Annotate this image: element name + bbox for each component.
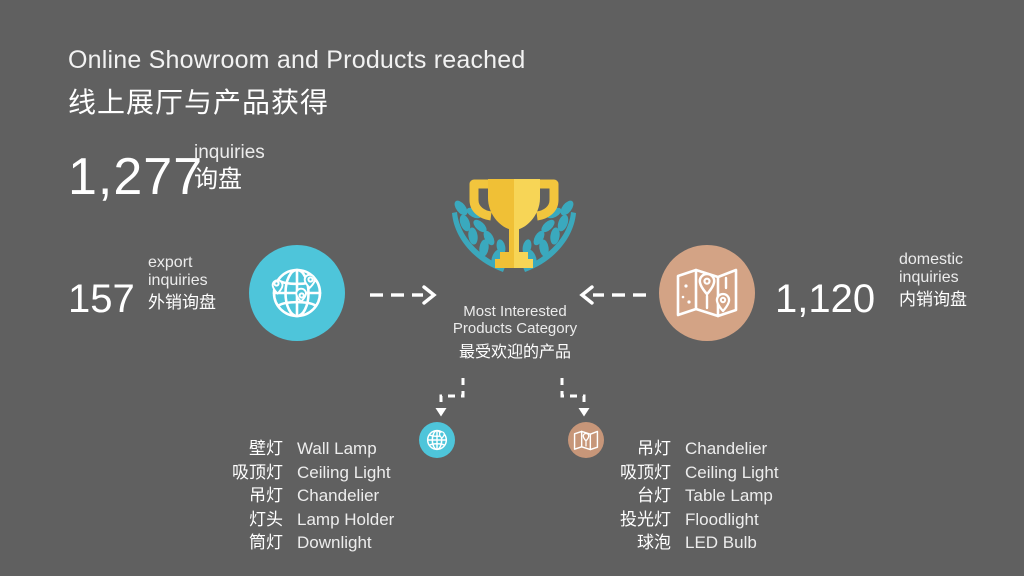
product-list-domestic: 吊灯 Chandelier 吸顶灯 Ceiling Light 台灯 Table… <box>620 437 779 555</box>
product-item-en: Downlight <box>297 531 394 555</box>
dashed-elbow-down-icon-left <box>425 378 467 427</box>
product-item-en: Lamp Holder <box>297 508 394 532</box>
product-item-en: Ceiling Light <box>685 461 779 485</box>
product-item-en: Chandelier <box>685 437 779 461</box>
dashed-arrow-left-icon <box>578 283 648 312</box>
domestic-label-zh: 内销询盘 <box>899 290 967 309</box>
export-label-en-line1: export <box>148 254 216 272</box>
domestic-label-en-line1: domestic <box>899 251 967 269</box>
export-label-zh: 外销询盘 <box>148 293 216 312</box>
export-label-en-line2: inquiries <box>148 272 216 290</box>
page-title-zh: 线上展厅与产品获得 <box>68 81 329 121</box>
product-list-export: 壁灯 Wall Lamp 吸顶灯 Ceiling Light 吊灯 Chande… <box>232 437 394 555</box>
product-item-zh: 球泡 <box>620 531 671 555</box>
total-inquiries-label-zh: 询盘 <box>194 166 265 194</box>
product-item-zh: 吊灯 <box>232 484 283 508</box>
product-item-en: Ceiling Light <box>297 461 394 485</box>
center-caption-zh: 最受欢迎的产品 <box>420 343 610 362</box>
product-item-zh: 壁灯 <box>232 437 283 461</box>
center-caption-en-line2: Products Category <box>420 320 610 337</box>
product-item-zh: 筒灯 <box>232 531 283 555</box>
domestic-inquiries-number: 1,120 <box>775 277 875 321</box>
trophy-icon <box>443 168 585 284</box>
product-item-zh: 吸顶灯 <box>232 461 283 485</box>
product-item-en: Table Lamp <box>685 484 779 508</box>
domestic-inquiries-label: domestic inquiries 内销询盘 <box>899 251 967 309</box>
product-item-en: Floodlight <box>685 508 779 532</box>
product-item-zh: 吊灯 <box>620 437 671 461</box>
product-item-zh: 投光灯 <box>620 508 671 532</box>
product-item-zh: 吸顶灯 <box>620 461 671 485</box>
export-inquiries-number: 157 <box>68 277 135 321</box>
product-item-zh: 台灯 <box>620 484 671 508</box>
product-item-en: Wall Lamp <box>297 437 394 461</box>
total-inquiries-label: inquiries 询盘 <box>194 142 265 193</box>
domestic-label-en-line2: inquiries <box>899 269 967 287</box>
export-inquiries-label: export inquiries 外销询盘 <box>148 254 216 312</box>
slide-canvas: Online Showroom and Products reached 线上展… <box>0 0 1024 576</box>
total-inquiries-number: 1,277 <box>68 148 203 206</box>
product-item-zh: 灯头 <box>232 508 283 532</box>
dashed-elbow-down-icon-right <box>558 378 600 427</box>
total-inquiries-label-en: inquiries <box>194 142 265 164</box>
page-title-en: Online Showroom and Products reached <box>68 46 525 75</box>
globe-icon-small <box>419 422 455 458</box>
dashed-arrow-right-icon <box>368 283 438 312</box>
product-item-en: LED Bulb <box>685 531 779 555</box>
map-icon-small <box>568 422 604 458</box>
globe-icon <box>249 245 345 341</box>
map-icon <box>659 245 755 341</box>
product-item-en: Chandelier <box>297 484 394 508</box>
